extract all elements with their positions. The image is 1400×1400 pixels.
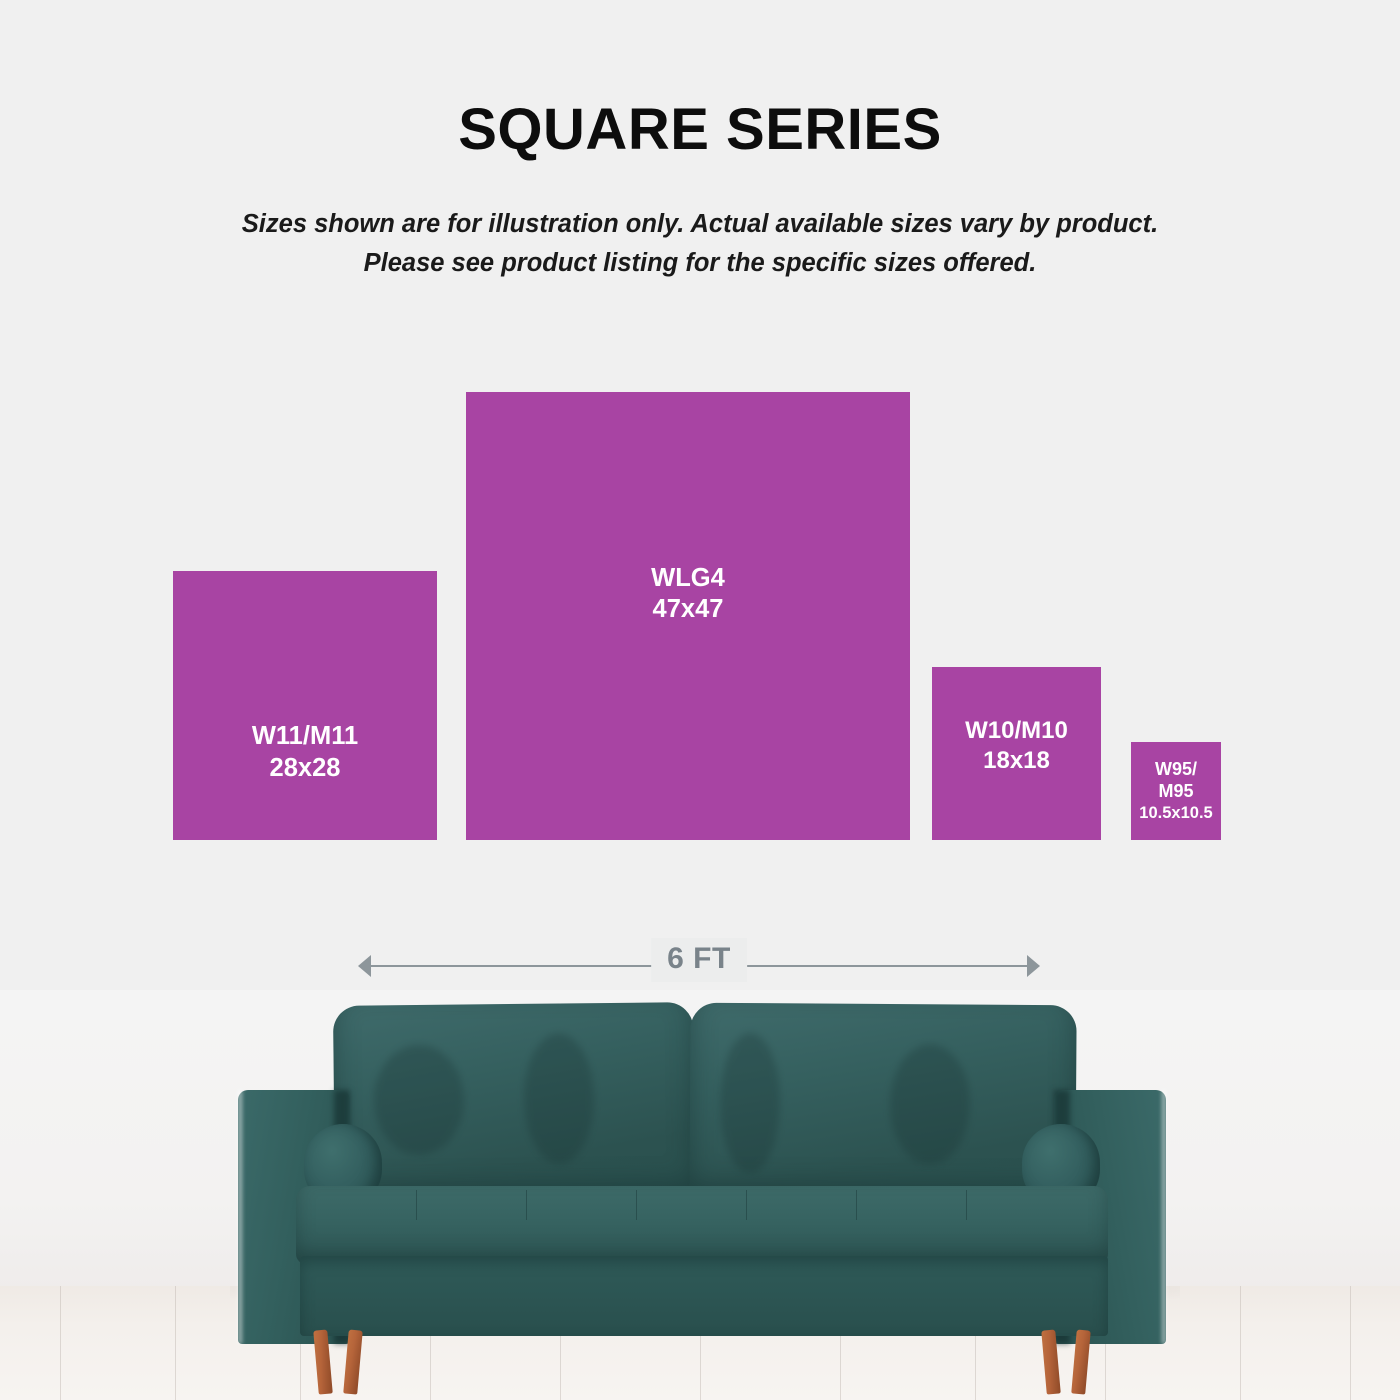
sofa-right-edge-highlight xyxy=(1162,1090,1166,1344)
dimension-arrow: 6 FT xyxy=(358,950,1040,982)
swatch-code-line-1: W95/ xyxy=(1131,759,1221,781)
size-swatch-w10-m10[interactable]: W10/M10 18x18 xyxy=(932,667,1101,840)
swatch-dimensions: 47x47 xyxy=(466,594,910,625)
arrow-right-icon xyxy=(1027,955,1040,977)
swatch-label-wrap: W11/M11 28x28 xyxy=(173,721,437,783)
sofa-illustration xyxy=(238,1004,1166,1344)
size-chart-page: SQUARE SERIES Sizes shown are for illust… xyxy=(0,0,1400,1400)
room-scene-photo xyxy=(0,990,1400,1400)
swatch-label-wrap: WLG4 47x47 xyxy=(466,563,910,625)
swatch-label-wrap: W10/M10 18x18 xyxy=(932,716,1101,775)
swatch-label-wrap: W95/ M95 10.5x10.5 xyxy=(1131,759,1221,823)
swatch-dimensions: 10.5x10.5 xyxy=(1131,803,1221,823)
sofa-seat-cushion xyxy=(296,1186,1108,1264)
dimension-label: 6 FT xyxy=(651,938,747,982)
swatch-code-line-2: M95 xyxy=(1131,781,1221,803)
swatch-code: WLG4 xyxy=(466,563,910,594)
size-swatch-wlg4[interactable]: WLG4 47x47 xyxy=(466,392,910,840)
size-swatch-w11-m11[interactable]: W11/M11 28x28 xyxy=(173,571,437,840)
sofa-back-cushion-left xyxy=(333,1002,695,1202)
swatch-dimensions: 28x28 xyxy=(173,753,437,784)
sofa-left-edge-highlight xyxy=(238,1090,242,1344)
swatch-code: W11/M11 xyxy=(173,721,437,752)
sofa-back-cushion-right xyxy=(689,1003,1076,1202)
sofa-base-frame xyxy=(300,1256,1108,1336)
swatch-dimensions: 18x18 xyxy=(932,746,1101,775)
swatch-code: W10/M10 xyxy=(932,716,1101,745)
size-swatch-w95-m95[interactable]: W95/ M95 10.5x10.5 xyxy=(1131,742,1221,840)
